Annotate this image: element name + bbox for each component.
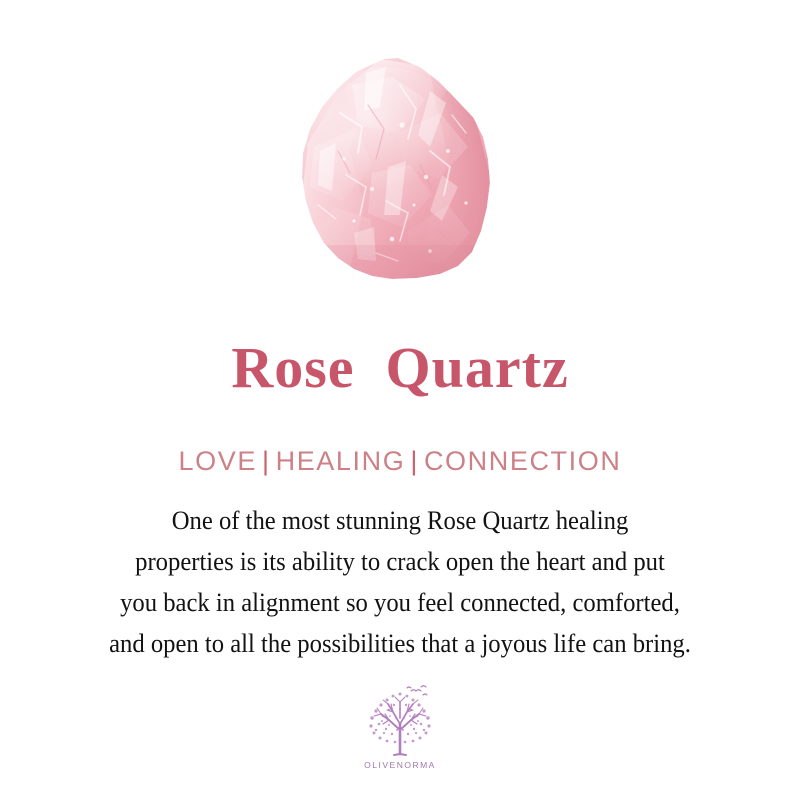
rose-quartz-product-card: Rose Quartz LOVE|HEALING|CONNECTION One … (0, 0, 800, 800)
brand-logo: OLIVENORMA (0, 684, 800, 770)
hero-image-region (0, 0, 800, 310)
description-paragraph: One of the most stunning Rose Quartz hea… (56, 500, 744, 664)
birds-icon (407, 686, 427, 695)
description-line: you back in alignment so you feel connec… (56, 582, 744, 623)
brand-name: OLIVENORMA (0, 760, 800, 770)
subtitle-separator-1: | (257, 446, 276, 476)
description-line: and open to all the possibilities that a… (56, 623, 744, 664)
page-title: Rose Quartz (0, 337, 800, 399)
tree-of-life-icon (359, 684, 441, 758)
subtitle-word-connection: CONNECTION (424, 446, 622, 476)
subtitle-word-healing: HEALING (276, 446, 406, 476)
description-line: properties is its ability to crack open … (56, 541, 744, 582)
subtitle-word-love: LOVE (179, 446, 257, 476)
subtitle-separator-2: | (405, 446, 424, 476)
rose-quartz-crystal-image (280, 55, 520, 290)
description-line: One of the most stunning Rose Quartz hea… (56, 500, 744, 541)
subtitle-keywords: LOVE|HEALING|CONNECTION (0, 444, 800, 478)
